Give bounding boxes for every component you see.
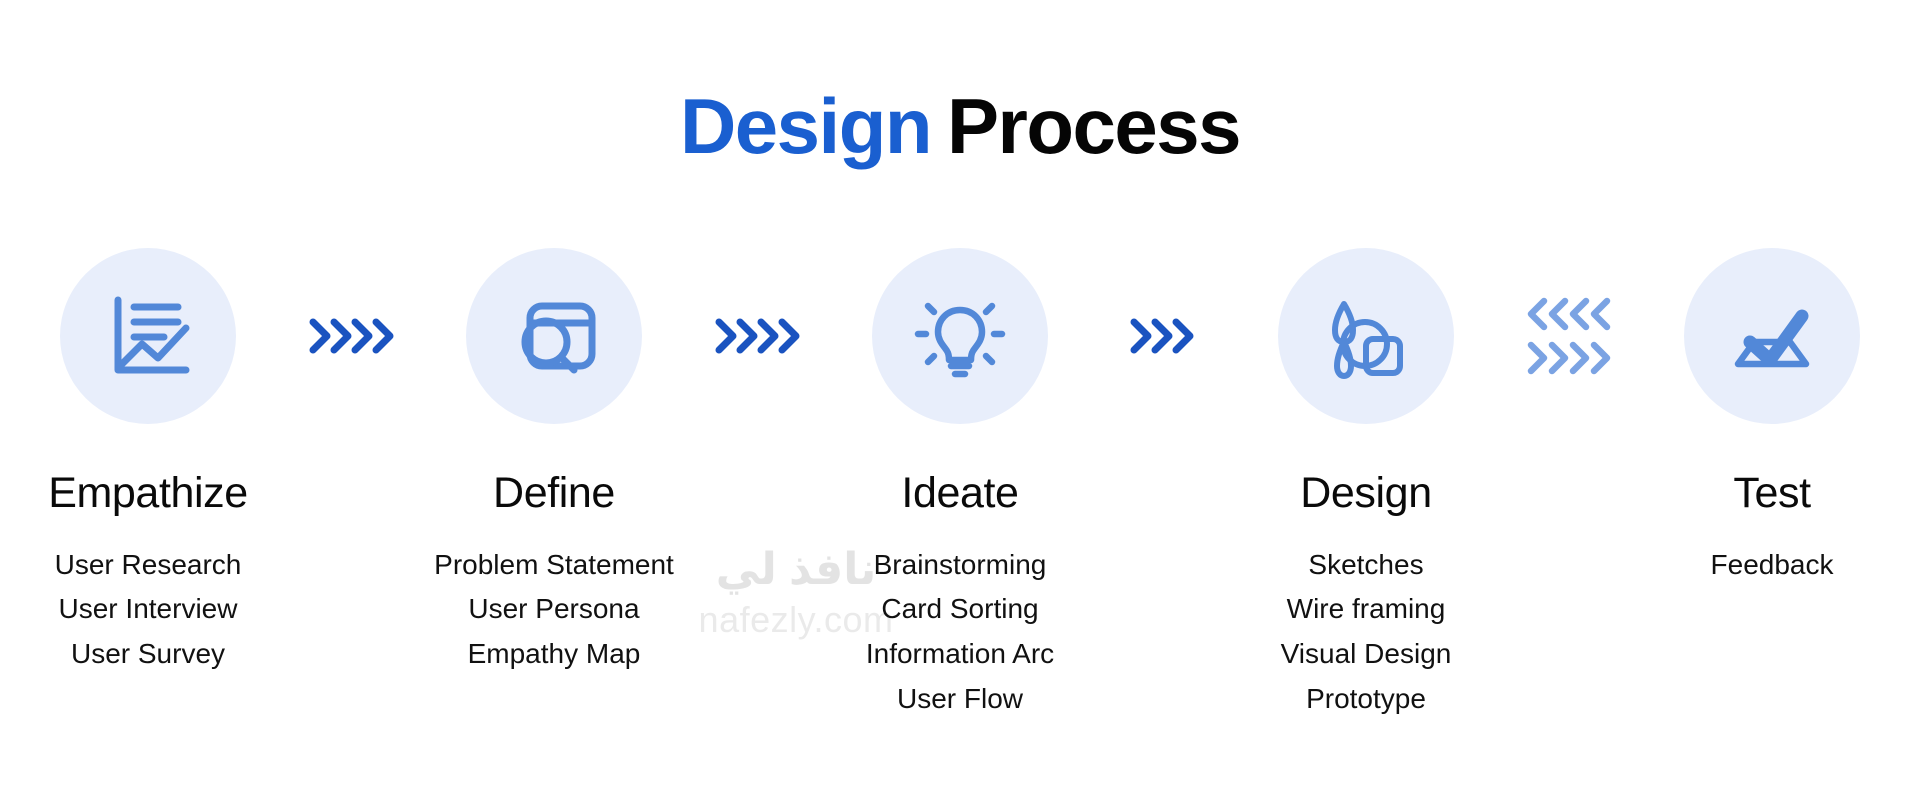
page-header: DesignProcess bbox=[0, 0, 1920, 220]
lightbulb-idea-icon bbox=[914, 290, 1006, 382]
browser-search-icon bbox=[508, 290, 600, 382]
page-title: DesignProcess bbox=[680, 86, 1240, 168]
list-item: Sketches bbox=[1308, 546, 1423, 585]
list-item: Brainstorming bbox=[874, 546, 1047, 585]
chevrons-right-icon bbox=[1126, 314, 1200, 358]
page-title-accent: Design bbox=[680, 82, 931, 170]
line-chart-report-icon bbox=[102, 290, 194, 382]
step-design-badge bbox=[1278, 248, 1454, 424]
list-item: Visual Design bbox=[1281, 635, 1452, 674]
step-define-items: Problem Statement User Persona Empathy M… bbox=[434, 546, 674, 674]
chevrons-right-icon bbox=[305, 314, 397, 358]
list-item: User Flow bbox=[897, 680, 1023, 719]
step-empathize-title: Empathize bbox=[48, 470, 248, 517]
connector-chevrons-bidirectional bbox=[1511, 248, 1627, 424]
page-title-rest: Process bbox=[947, 82, 1240, 170]
step-test-badge bbox=[1684, 248, 1860, 424]
list-item: Problem Statement bbox=[434, 546, 674, 585]
list-item: Prototype bbox=[1306, 680, 1426, 719]
list-item: Empathy Map bbox=[468, 635, 641, 674]
step-empathize[interactable]: Empathize User Research User Interview U… bbox=[3, 248, 293, 673]
step-design-items: Sketches Wire framing Visual Design Prot… bbox=[1281, 546, 1452, 719]
step-ideate[interactable]: Ideate Brainstorming Card Sorting Inform… bbox=[815, 248, 1105, 718]
chevrons-right-icon bbox=[1523, 341, 1615, 375]
step-ideate-title: Ideate bbox=[901, 470, 1018, 517]
list-item: User Interview bbox=[59, 590, 238, 629]
list-item: Information Arc bbox=[866, 635, 1054, 674]
pen-shapes-tool-icon bbox=[1320, 290, 1412, 382]
step-empathize-badge bbox=[60, 248, 236, 424]
checkmark-tray-icon bbox=[1726, 290, 1818, 382]
design-process-flow: Empathize User Research User Interview U… bbox=[0, 248, 1920, 718]
list-item: User Persona bbox=[468, 590, 639, 629]
step-ideate-items: Brainstorming Card Sorting Information A… bbox=[866, 546, 1054, 719]
list-item: Feedback bbox=[1711, 546, 1834, 585]
step-empathize-items: User Research User Interview User Survey bbox=[55, 546, 242, 674]
step-design[interactable]: Design Sketches Wire framing Visual Desi… bbox=[1221, 248, 1511, 718]
list-item: Wire framing bbox=[1287, 590, 1446, 629]
step-test[interactable]: Test Feedback bbox=[1627, 248, 1917, 584]
connector-chevrons-right-2 bbox=[699, 248, 815, 424]
chevrons-right-icon bbox=[711, 314, 803, 358]
step-define[interactable]: Define Problem Statement User Persona Em… bbox=[409, 248, 699, 673]
step-design-title: Design bbox=[1300, 470, 1431, 517]
chevrons-left-icon bbox=[1523, 297, 1615, 331]
step-test-title: Test bbox=[1733, 470, 1810, 517]
list-item: User Research bbox=[55, 546, 242, 585]
list-item: Card Sorting bbox=[881, 590, 1038, 629]
step-test-items: Feedback bbox=[1711, 546, 1834, 585]
connector-chevrons-right-1 bbox=[293, 248, 409, 424]
step-define-title: Define bbox=[493, 470, 615, 517]
step-ideate-badge bbox=[872, 248, 1048, 424]
list-item: User Survey bbox=[71, 635, 225, 674]
connector-chevrons-right-3 bbox=[1105, 248, 1221, 424]
step-define-badge bbox=[466, 248, 642, 424]
